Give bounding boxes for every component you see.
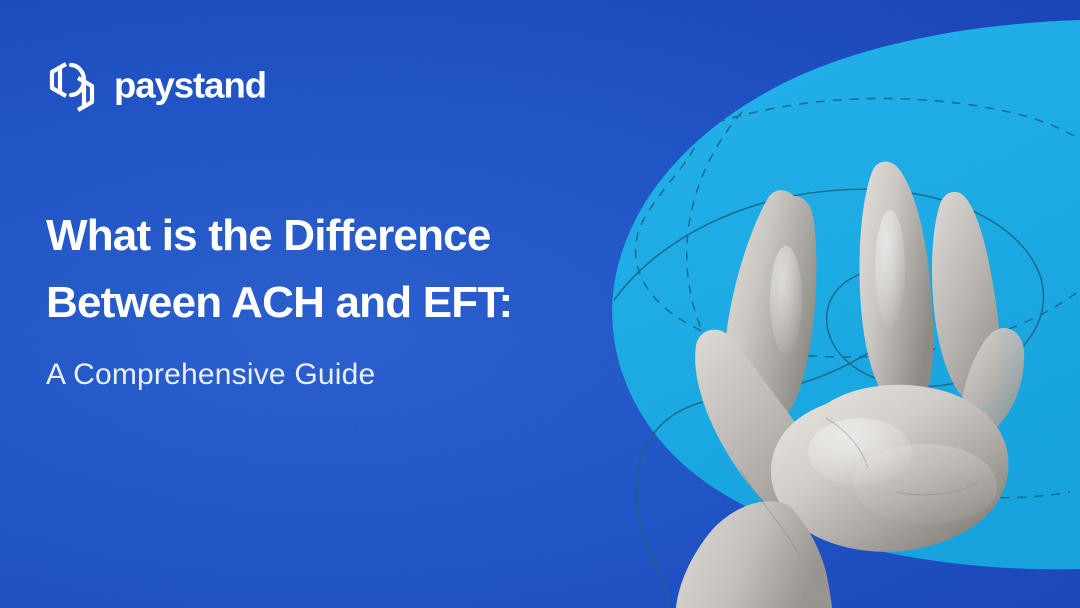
palm-highlight [808,418,912,486]
hero-copy: What is the Difference Between ACH and E… [46,202,606,394]
middle-highlight [875,210,905,326]
paystand-logo[interactable]: paystand [44,58,298,116]
hand-group [676,162,1024,608]
page-subtitle: A Comprehensive Guide [46,356,606,394]
index-highlight [770,246,802,354]
paystand-wordmark: paystand [114,67,298,107]
page-title: What is the Difference Between ACH and E… [46,202,606,336]
svg-text:paystand: paystand [114,67,266,105]
paystand-hexagon-logo-icon [44,58,100,116]
headline-line-1: What is the Difference [46,202,606,269]
headline-line-2: Between ACH and EFT: [46,269,606,336]
hero-banner: paystand What is the Difference Between … [0,0,1080,608]
